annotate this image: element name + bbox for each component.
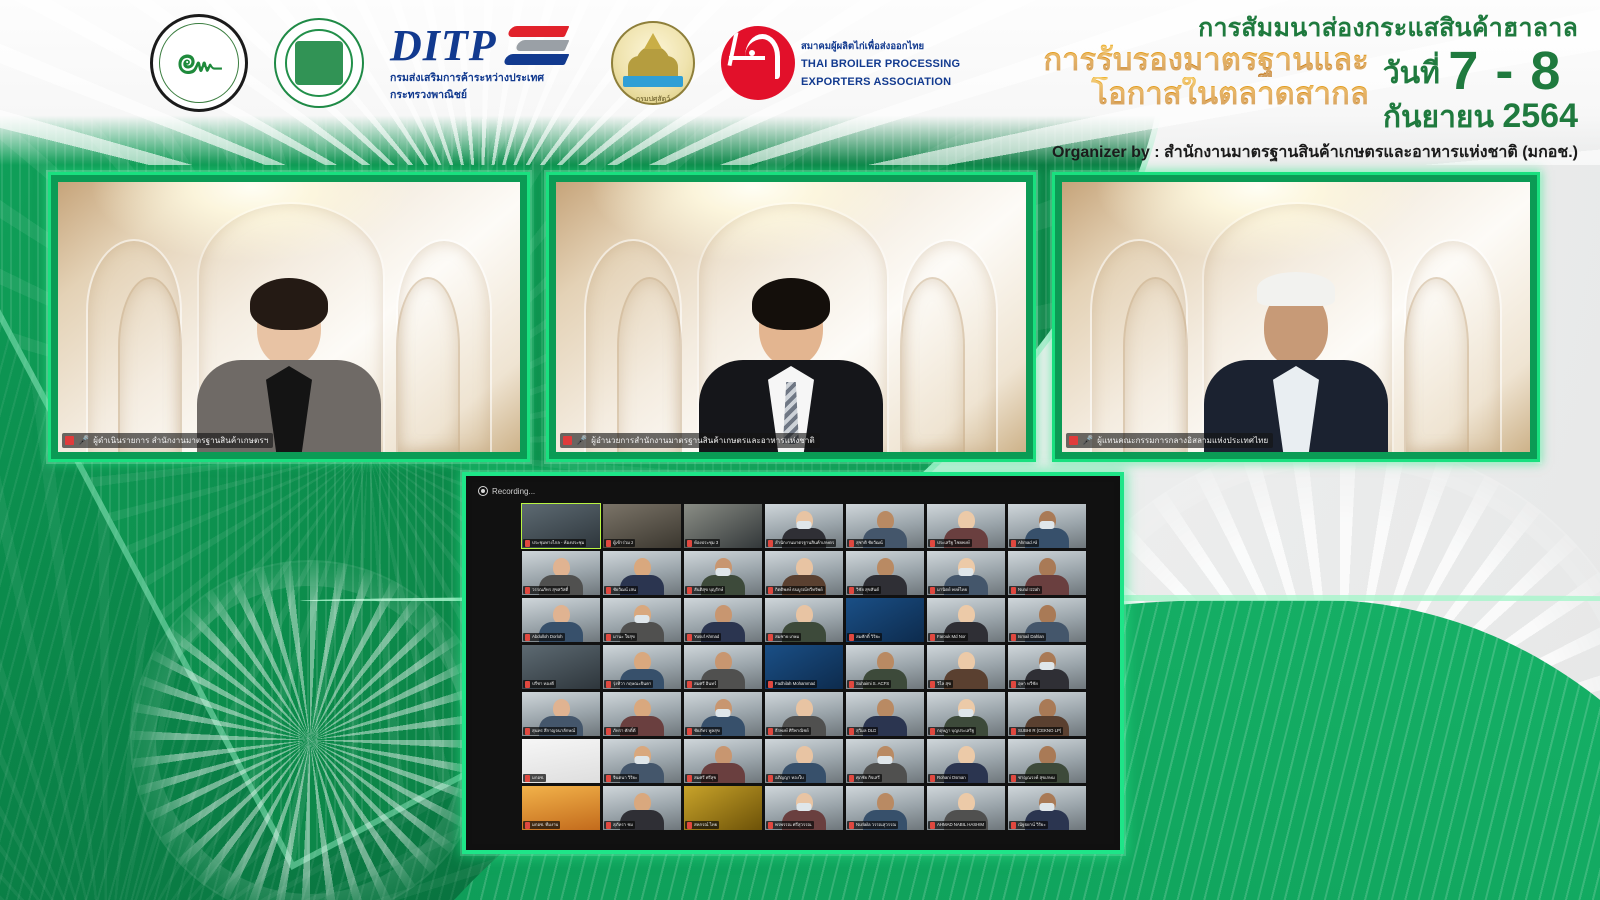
muted-microphone-icon: [525, 822, 530, 829]
participant-name: Nurul Izzah: [1018, 586, 1040, 594]
participant-name-tag: Fadhilah Mohammad: [766, 680, 817, 688]
participant-name-tag: มานิตย์ พงษ์ไทย: [928, 586, 969, 594]
muted-microphone-icon: [768, 775, 773, 782]
participant-name: กิตติพงษ์ ธนบูรณ์ทวีทรัพย์: [775, 586, 823, 594]
muted-microphone-icon: [849, 587, 854, 594]
participant-grid: ประชุมทางไกล - ห้องประชุมผู้เข้าร่วม 2ห้…: [522, 504, 1086, 830]
participant-tile[interactable]: ศุภชัย กิจเสรี: [846, 739, 924, 783]
participant-name: Ismail Dahlan: [1018, 633, 1044, 641]
participant-name: สหกรณ์ ไทย: [694, 821, 717, 829]
participant-name: อภิญญา ทองใบ: [775, 774, 804, 782]
participant-tile[interactable]: กิตติพงษ์ ธนบูรณ์ทวีทรัพย์: [765, 551, 843, 595]
speaker-1-name: ผู้ดำเนินรายการ สำนักงานมาตรฐานสินค้าเกษ…: [93, 434, 268, 447]
participant-name-tag: ห้องประชุม 3: [685, 539, 720, 547]
speaker-2-name-strip: 🎤 ผู้อำนวยการสำนักงานมาตรฐานสินค้าเกษตรแ…: [560, 433, 820, 448]
date-range: 7 - 8: [1448, 41, 1561, 101]
participant-tile[interactable]: อุษา ทวีชัย: [1008, 645, 1086, 689]
participant-tile[interactable]: มกอช.: [522, 739, 600, 783]
face-mask: [1040, 662, 1055, 670]
participant-name-tag: กิตติพงษ์ ธนบูรณ์ทวีทรัพย์: [766, 586, 825, 594]
participant-tile[interactable]: สุชาติ ชัยวัฒน์: [846, 504, 924, 548]
department-green-seal-icon: [274, 18, 364, 108]
participant-name-tag: มานะ ใจสุข: [604, 633, 637, 641]
participant-name-tag: กฤษฎา บุญประเสริฐ: [928, 727, 976, 735]
participant-name-tag: ณัฐธยาน์ วิริยะ: [1009, 821, 1048, 829]
participant-name-tag: พรพรรณ ศรีสุวรรณ: [766, 821, 814, 829]
participant-tile[interactable]: ภัทรา ศักดิ์ดี: [603, 692, 681, 736]
ditp-logo: DITP กรมส่งเสริมการค้าระหว่างประเทศ กระท…: [390, 24, 585, 102]
muted-microphone-icon: [606, 540, 611, 547]
participant-tile[interactable]: Ahmad Ali: [1008, 504, 1086, 548]
muted-microphone-icon: [525, 540, 530, 547]
muted-microphone-icon: [525, 728, 530, 735]
participant-tile[interactable]: อภิญญา ทองใบ: [765, 739, 843, 783]
participant-name: จินตนา วิริยะ: [613, 774, 637, 782]
muted-microphone-icon: [849, 775, 854, 782]
participant-tile[interactable]: สำนักงานมาตรฐานสินค้าเกษตร: [765, 504, 843, 548]
banner-header: ๛ DITP กรมส่งเสริมการค้าระหว่างประเทศ กร…: [0, 0, 1600, 165]
participant-name-tag: ปรีชา ทองดี: [523, 680, 556, 688]
date-word: วันที่: [1383, 57, 1440, 90]
participant-name: มานิตย์ พงษ์ไทย: [937, 586, 967, 594]
seminar-title-line2: การรับรองมาตรฐานและ: [1043, 43, 1369, 78]
participant-name-tag: ภัทรา ศักดิ์ดี: [604, 727, 638, 735]
participant-name-tag: Farouk Md Nor: [928, 633, 968, 641]
participant-tile[interactable]: สุนทร สีกาญจนาลักษณ์: [522, 692, 600, 736]
muted-microphone-icon: [768, 681, 773, 688]
zoom-gallery-screen: Recording... ประชุมทางไกล - ห้องประชุมผู…: [472, 482, 1114, 844]
participant-name-tag: ชัยวัฒน์ เสน: [604, 586, 638, 594]
muted-microphone-icon: [687, 634, 692, 641]
participant-name: SUBHI R (CEKNO LP): [1018, 727, 1061, 735]
participant-tile[interactable]: Farouk Md Nor: [927, 598, 1005, 642]
speaker-3-name: ผู้แทนคณะกรรมการกลางอิสลามแห่งประเทศไทย: [1097, 434, 1268, 447]
participant-tile[interactable]: ประเสริฐ ไชยพงษ์: [927, 504, 1005, 548]
speaker-tile-2[interactable]: 🎤 ผู้อำนวยการสำนักงานมาตรฐานสินค้าเกษตรแ…: [546, 172, 1036, 462]
recording-dot-icon: [563, 436, 572, 445]
muted-microphone-icon: [1011, 822, 1016, 829]
participant-name: มกอช. ทีมงาน: [532, 821, 558, 829]
muted-microphone-icon: [930, 634, 935, 641]
speaker-1-name-strip: 🎤 ผู้ดำเนินรายการ สำนักงานมาตรฐานสินค้าเ…: [62, 433, 273, 448]
seminar-date-block: วันที่ 7 - 8 กันยายน 2564: [1383, 43, 1578, 134]
dld-caption: กรมปศุสัตว์: [613, 94, 693, 105]
participant-name-tag: มกอช.: [523, 774, 546, 782]
participant-name-tag: ผู้เข้าร่วม 2: [604, 539, 635, 547]
participant-name-tag: ชาญณรงค์ สุขเกษม: [1009, 774, 1057, 782]
participant-name-tag: Nurul Izzah: [1009, 586, 1042, 594]
participant-name: สมศรี อินทร์: [694, 680, 716, 688]
muted-microphone-icon: [768, 728, 773, 735]
participant-name-tag: ธีรพงษ์ ศิริพาณิชย์: [766, 727, 811, 735]
speaker-2-figure: [699, 288, 883, 452]
participant-name: ประชุมทางไกล - ห้องประชุม: [532, 539, 584, 547]
participant-tile[interactable]: Fadhilah Mohammad: [765, 645, 843, 689]
participant-name-tag: ประเสริฐ ไชยพงษ์: [928, 539, 972, 547]
participant-name: Ahmad Ali: [1018, 539, 1037, 547]
face-mask: [878, 756, 893, 764]
participant-name: สุวิมล DLD: [856, 727, 876, 735]
participant-name: สำนักงานมาตรฐานสินค้าเกษตร: [775, 539, 834, 547]
participant-name: รุ่งทิวา กฤษณะจินดา: [613, 680, 651, 688]
participant-tile[interactable]: Suhaimi S. ACFS: [846, 645, 924, 689]
participant-name: Yusuf Ahmad: [694, 633, 719, 641]
muted-microphone-icon: [606, 775, 611, 782]
participant-name: AHMAD NABIL HASHIM: [937, 821, 984, 829]
speaker-3-figure: [1204, 288, 1388, 452]
participant-name: สมชาย เกษม: [775, 633, 799, 641]
muted-microphone-icon: [849, 634, 854, 641]
participant-tile[interactable]: AHMAD NABIL HASHIM: [927, 786, 1005, 830]
participant-name: ผู้เข้าร่วม 2: [613, 539, 633, 547]
participant-name-tag: ชัยภัทร พูลสุข: [685, 727, 722, 735]
participant-name: สุชาติ ชัยวัฒน์: [856, 539, 883, 547]
speaker-tile-3[interactable]: 🎤 ผู้แทนคณะกรรมการกลางอิสลามแห่งประเทศไท…: [1052, 172, 1540, 462]
muted-microphone-icon: [849, 822, 854, 829]
date-month: กันยายน: [1383, 101, 1494, 134]
muted-microphone-icon: [1011, 540, 1016, 547]
participant-name-tag: Suhaimi S. ACFS: [847, 680, 891, 688]
speaker-1-figure: [197, 288, 381, 452]
ditp-subtitle-line2: กระทรวงพาณิชย์: [390, 89, 585, 102]
participant-name: วิชัย สุขสันต์: [856, 586, 879, 594]
participant-tile[interactable]: Abdulloh Dorloh: [522, 598, 600, 642]
participant-name-tag: Ismail Dahlan: [1009, 633, 1046, 641]
muted-microphone-icon: [849, 681, 854, 688]
participant-name: ชัยวัฒน์ เสน: [613, 586, 636, 594]
participant-name-tag: วรรณภัทร สุขสวัสดิ์: [523, 586, 570, 594]
acfs-logo: ๛: [150, 14, 248, 112]
acfs-glyph: ๛: [176, 41, 222, 81]
participant-name: ปรีชา ทองดี: [532, 680, 554, 688]
seminar-title-block: การสัมมนาส่องกระแสสินค้าฮาลาล การรับรองม…: [818, 14, 1578, 165]
participant-name: สมศักดิ์ วิริยะ: [856, 633, 880, 641]
participant-name-tag: รุ่งทิวา กฤษณะจินดา: [604, 680, 653, 688]
participant-name: ชัยภัทร พูลสุข: [694, 727, 720, 735]
participant-name: มานะ ใจสุข: [613, 633, 635, 641]
recording-dot-icon: [65, 436, 74, 445]
participant-name: สุภัทรา ชม: [613, 821, 633, 829]
muted-microphone-icon: [930, 728, 935, 735]
participant-tile[interactable]: พรพรรณ ศรีสุวรรณ: [765, 786, 843, 830]
face-mask: [959, 568, 974, 576]
ditp-wordmark: DITP: [390, 24, 497, 68]
muted-microphone-icon: [1011, 681, 1016, 688]
participant-name: ห้องประชุม 3: [694, 539, 718, 547]
ditp-swoosh-icon: [505, 26, 567, 66]
participant-name-tag: สุวิมล DLD: [847, 727, 878, 735]
participant-name: วิไล สุข: [937, 680, 951, 688]
participant-name: Nurlaila วรรณสุวรรณ: [856, 821, 896, 829]
muted-microphone-icon: [1011, 728, 1016, 735]
participant-name: ภัทรา ศักดิ์ดี: [613, 727, 636, 735]
participant-tile[interactable]: สุภัทรา ชม: [603, 786, 681, 830]
broiler-chicken-icon: [721, 26, 795, 100]
muted-microphone-icon: [606, 681, 611, 688]
participant-name-tag: สหกรณ์ ไทย: [685, 821, 719, 829]
participant-name-tag: วิไล สุข: [928, 680, 953, 688]
face-mask: [797, 521, 812, 529]
muted-microphone-icon: [930, 587, 935, 594]
muted-microphone-icon: [849, 540, 854, 547]
participant-name-tag: สุชาติ ชัยวัฒน์: [847, 539, 885, 547]
participant-tile[interactable]: Nurul Izzah: [1008, 551, 1086, 595]
microphone-icon: 🎤: [576, 435, 587, 446]
recording-dot-icon: [1069, 436, 1078, 445]
participant-tile[interactable]: มานะ ใจสุข: [603, 598, 681, 642]
participant-name-tag: สมชาย เกษม: [766, 633, 801, 641]
participant-name-tag: Ahmad Ali: [1009, 539, 1039, 547]
participant-name-tag: สุนทร สีกาญจนาลักษณ์: [523, 727, 577, 735]
muted-microphone-icon: [1011, 587, 1016, 594]
participant-name: สันติสุข บุญรักษ์: [694, 586, 723, 594]
participant-tile[interactable]: สมศักดิ์ วิริยะ: [846, 598, 924, 642]
muted-microphone-icon: [687, 681, 692, 688]
face-mask: [716, 568, 731, 576]
participant-tile[interactable]: กฤษฎา บุญประเสริฐ: [927, 692, 1005, 736]
participant-name: อุษา ทวีชัย: [1018, 680, 1038, 688]
department-green-logo: [274, 18, 364, 108]
participant-name-tag: Abdulloh Dorloh: [523, 633, 565, 641]
mandala-watermark-left: [130, 560, 490, 900]
ditp-subtitle-line1: กรมส่งเสริมการค้าระหว่างประเทศ: [390, 72, 585, 85]
muted-microphone-icon: [525, 775, 530, 782]
participant-tile[interactable]: ชัยภัทร พูลสุข: [684, 692, 762, 736]
participant-name: ณัฐธยาน์ วิริยะ: [1018, 821, 1046, 829]
speaker-tile-1[interactable]: 🎤 ผู้ดำเนินรายการ สำนักงานมาตรฐานสินค้าเ…: [48, 172, 530, 462]
participant-tile[interactable]: ชาญณรงค์ สุขเกษม: [1008, 739, 1086, 783]
participant-name-tag: AHMAD NABIL HASHIM: [928, 821, 986, 829]
participant-tile[interactable]: ชัยวัฒน์ เสน: [603, 551, 681, 595]
participant-tile[interactable]: วรรณภัทร สุขสวัสดิ์: [522, 551, 600, 595]
muted-microphone-icon: [687, 775, 692, 782]
participant-name-tag: ประชุมทางไกล - ห้องประชุม: [523, 539, 586, 547]
participant-tile[interactable]: สันติสุข บุญรักษ์: [684, 551, 762, 595]
participant-tile[interactable]: ปรีชา ทองดี: [522, 645, 600, 689]
participant-name: มกอช.: [532, 774, 544, 782]
organizer-line: Organizer by : สำนักงานมาตรฐานสินค้าเกษต…: [818, 140, 1578, 165]
recording-indicator: Recording...: [478, 486, 535, 496]
muted-microphone-icon: [930, 822, 935, 829]
face-mask: [1040, 803, 1055, 811]
participant-name: ประเสริฐ ไชยพงษ์: [937, 539, 970, 547]
participant-tile[interactable]: วิไล สุข: [927, 645, 1005, 689]
participant-name-tag: อุษา ทวีชัย: [1009, 680, 1040, 688]
date-year: 2564: [1502, 97, 1578, 135]
participant-name: Farouk Md Nor: [937, 633, 966, 641]
participant-name: พรพรรณ ศรีสุวรรณ: [775, 821, 812, 829]
muted-microphone-icon: [768, 634, 773, 641]
participant-tile[interactable]: สหกรณ์ ไทย: [684, 786, 762, 830]
muted-microphone-icon: [849, 728, 854, 735]
muted-microphone-icon: [930, 775, 935, 782]
participant-tile[interactable]: Rohani Osman: [927, 739, 1005, 783]
participant-tile[interactable]: สมศรี อินทร์: [684, 645, 762, 689]
participant-tile[interactable]: มกอช. ทีมงาน: [522, 786, 600, 830]
face-mask: [716, 709, 731, 717]
muted-microphone-icon: [687, 540, 692, 547]
participant-tile[interactable]: Nurlaila วรรณสุวรรณ: [846, 786, 924, 830]
participant-name: ชาญณรงค์ สุขเกษม: [1018, 774, 1055, 782]
seminar-title-line3: โอกาสในตลาดสากล: [1043, 77, 1369, 112]
participant-name: สุนทร สีกาญจนาลักษณ์: [532, 727, 575, 735]
participant-name: ศุภชัย กิจเสรี: [856, 774, 880, 782]
face-mask: [959, 709, 974, 717]
recording-label: Recording...: [492, 487, 535, 496]
participant-name-tag: วิชัย สุขสันต์: [847, 586, 881, 594]
participant-tile[interactable]: ผู้เข้าร่วม 2: [603, 504, 681, 548]
participant-name-tag: SUBHI R (CEKNO LP): [1009, 727, 1063, 735]
muted-microphone-icon: [606, 728, 611, 735]
participant-name-tag: ศุภชัย กิจเสรี: [847, 774, 882, 782]
presentation-stage: ๛ DITP กรมส่งเสริมการค้าระหว่างประเทศ กร…: [0, 0, 1600, 900]
participant-name: Suhaimi S. ACFS: [856, 680, 889, 688]
speaker-3-name-strip: 🎤 ผู้แทนคณะกรรมการกลางอิสลามแห่งประเทศไท…: [1066, 433, 1273, 448]
participant-name-tag: Yusuf Ahmad: [685, 633, 721, 641]
participant-tile[interactable]: ห้องประชุม 3: [684, 504, 762, 548]
participant-name-tag: จินตนา วิริยะ: [604, 774, 639, 782]
dld-logo: กรมปศุสัตว์: [611, 21, 695, 105]
zoom-gallery-panel[interactable]: Recording... ประชุมทางไกล - ห้องประชุมผู…: [462, 472, 1124, 854]
participant-tile[interactable]: Ismail Dahlan: [1008, 598, 1086, 642]
muted-microphone-icon: [525, 681, 530, 688]
muted-microphone-icon: [768, 587, 773, 594]
record-dot-icon: [478, 486, 488, 496]
participant-name: Fadhilah Mohammad: [775, 680, 815, 688]
participant-tile[interactable]: มานิตย์ พงษ์ไทย: [927, 551, 1005, 595]
dld-royal-seal-icon: กรมปศุสัตว์: [611, 21, 695, 105]
participant-tile[interactable]: ประชุมทางไกล - ห้องประชุม: [522, 504, 600, 548]
muted-microphone-icon: [606, 822, 611, 829]
participant-name-tag: สมศรี ศรีสุข: [685, 774, 718, 782]
participant-tile[interactable]: SUBHI R (CEKNO LP): [1008, 692, 1086, 736]
participant-name-tag: มกอช. ทีมงาน: [523, 821, 560, 829]
participant-tile[interactable]: สมชาย เกษม: [765, 598, 843, 642]
microphone-icon: 🎤: [1082, 435, 1093, 446]
muted-microphone-icon: [606, 634, 611, 641]
participant-name-tag: อภิญญา ทองใบ: [766, 774, 806, 782]
muted-microphone-icon: [1011, 634, 1016, 641]
participant-name: กฤษฎา บุญประเสริฐ: [937, 727, 974, 735]
participant-name: ธีรพงษ์ ศิริพาณิชย์: [775, 727, 809, 735]
muted-microphone-icon: [1011, 775, 1016, 782]
participant-tile[interactable]: Yusuf Ahmad: [684, 598, 762, 642]
participant-name-tag: สำนักงานมาตรฐานสินค้าเกษตร: [766, 539, 836, 547]
participant-name-tag: สมศักดิ์ วิริยะ: [847, 633, 882, 641]
participant-name-tag: Rohani Osman: [928, 774, 968, 782]
participant-name: Abdulloh Dorloh: [532, 633, 563, 641]
face-mask: [635, 615, 650, 623]
microphone-icon: 🎤: [78, 435, 89, 446]
participant-tile[interactable]: ธีรพงษ์ ศิริพาณิชย์: [765, 692, 843, 736]
participant-tile[interactable]: จินตนา วิริยะ: [603, 739, 681, 783]
muted-microphone-icon: [768, 540, 773, 547]
participant-name: Rohani Osman: [937, 774, 966, 782]
muted-microphone-icon: [525, 587, 530, 594]
participant-name: วรรณภัทร สุขสวัสดิ์: [532, 586, 568, 594]
participant-tile[interactable]: สมศรี ศรีสุข: [684, 739, 762, 783]
face-mask: [1040, 521, 1055, 529]
acfs-seal-icon: ๛: [150, 14, 248, 112]
participant-name-tag: Nurlaila วรรณสุวรรณ: [847, 821, 898, 829]
muted-microphone-icon: [687, 728, 692, 735]
muted-microphone-icon: [930, 681, 935, 688]
muted-microphone-icon: [525, 634, 530, 641]
participant-name-tag: สันติสุข บุญรักษ์: [685, 586, 725, 594]
muted-microphone-icon: [930, 540, 935, 547]
muted-microphone-icon: [687, 822, 692, 829]
muted-microphone-icon: [768, 822, 773, 829]
face-mask: [797, 803, 812, 811]
speaker-2-name: ผู้อำนวยการสำนักงานมาตรฐานสินค้าเกษตรและ…: [591, 434, 815, 447]
participant-tile[interactable]: ณัฐธยาน์ วิริยะ: [1008, 786, 1086, 830]
face-mask: [635, 756, 650, 764]
participant-name-tag: สุภัทรา ชม: [604, 821, 635, 829]
participant-name: สมศรี ศรีสุข: [694, 774, 716, 782]
participant-tile[interactable]: สุวิมล DLD: [846, 692, 924, 736]
seminar-title-line1: การสัมมนาส่องกระแสสินค้าฮาลาล: [818, 14, 1578, 43]
participant-tile[interactable]: รุ่งทิวา กฤษณะจินดา: [603, 645, 681, 689]
muted-microphone-icon: [606, 587, 611, 594]
participant-name-tag: สมศรี อินทร์: [685, 680, 718, 688]
muted-microphone-icon: [687, 587, 692, 594]
participant-tile[interactable]: วิชัย สุขสันต์: [846, 551, 924, 595]
